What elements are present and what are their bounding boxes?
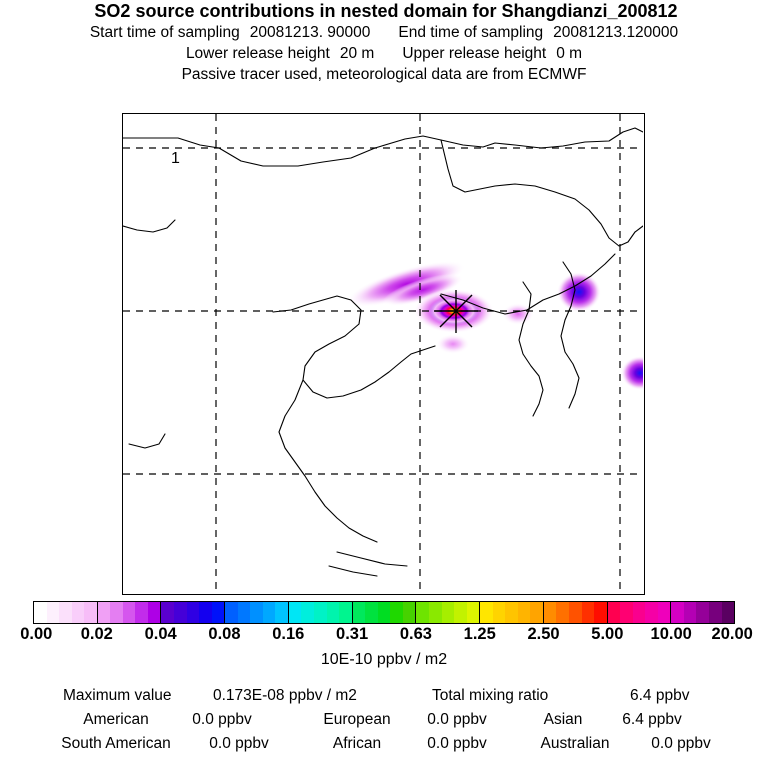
region-asian-label: Asian bbox=[544, 708, 583, 732]
release-height-line: Lower release height20 mUpper release he… bbox=[0, 43, 768, 64]
method-note: Passive tracer used, meteorological data… bbox=[0, 64, 768, 85]
colorbar-band-3-2 bbox=[250, 602, 263, 623]
end-time-value: 20081213.120000 bbox=[553, 24, 678, 41]
south-faint-plume bbox=[436, 334, 470, 354]
colorbar-band-3-1 bbox=[238, 602, 251, 623]
region-african-value: 0.0 ppbv bbox=[427, 732, 486, 756]
region-asian-value: 6.4 ppbv bbox=[622, 708, 681, 732]
colorbar-band-10-3 bbox=[709, 602, 722, 623]
stats-row-regions-1: American 0.0 ppbv European 0.0 ppbv Asia… bbox=[0, 708, 768, 732]
total-mixing-ratio-label: Total mixing ratio bbox=[432, 684, 548, 708]
colorbar-tick-6: 0.63 bbox=[400, 625, 432, 643]
max-value-label: Maximum value bbox=[63, 684, 172, 708]
colorbar-band-3-0 bbox=[225, 602, 238, 623]
colorbar-tick-11: 20.00 bbox=[712, 625, 753, 643]
colorbar-band-5-0 bbox=[353, 602, 366, 623]
region-south-american-label: South American bbox=[61, 732, 170, 756]
concentration-plumes bbox=[342, 252, 643, 390]
colorbar-band-3-4 bbox=[275, 602, 288, 623]
colorbar-band-1-3 bbox=[135, 602, 148, 623]
colorbar-band-5-3 bbox=[390, 602, 403, 623]
colorbar-band-1-4 bbox=[148, 602, 161, 623]
colorbar-band-6-3 bbox=[454, 602, 467, 623]
colorbar-band-10-0 bbox=[671, 602, 684, 623]
region-south-american-value: 0.0 ppbv bbox=[209, 732, 268, 756]
region-american-label: American bbox=[83, 708, 148, 732]
colorbar-band-6-1 bbox=[429, 602, 442, 623]
colorbar-tick-7: 1.25 bbox=[464, 625, 496, 643]
colorbar-segment-9 bbox=[608, 602, 672, 623]
colorbar-band-7-4 bbox=[530, 602, 543, 623]
colorbar-band-9-4 bbox=[658, 602, 671, 623]
colorbar-tick-2: 0.04 bbox=[145, 625, 177, 643]
nested-domain-label: 1 bbox=[171, 151, 180, 167]
colorbar-band-8-1 bbox=[556, 602, 569, 623]
colorbar-band-9-3 bbox=[645, 602, 658, 623]
colorbar-segment-8 bbox=[544, 602, 608, 623]
colorbar-band-0-0 bbox=[34, 602, 47, 623]
colorbar-band-2-3 bbox=[199, 602, 212, 623]
colorbar-segment-3 bbox=[225, 602, 289, 623]
colorbar-tick-8: 2.50 bbox=[527, 625, 559, 643]
colorbar-segment-2 bbox=[161, 602, 225, 623]
map-gridlines bbox=[123, 114, 643, 593]
colorbar-band-5-2 bbox=[378, 602, 391, 623]
colorbar-band-0-1 bbox=[47, 602, 60, 623]
colorbar-band-5-1 bbox=[365, 602, 378, 623]
colorbar-band-7-0 bbox=[480, 602, 493, 623]
max-value-value: 0.173E-08 ppbv / m2 bbox=[213, 684, 357, 708]
colorbar-band-8-0 bbox=[544, 602, 557, 623]
start-time-label: Start time of sampling bbox=[90, 24, 240, 41]
region-european-label: European bbox=[323, 708, 390, 732]
chart-header: SO2 source contributions in nested domai… bbox=[0, 0, 768, 85]
region-american-value: 0.0 ppbv bbox=[192, 708, 251, 732]
colorbar-band-3-3 bbox=[263, 602, 276, 623]
colorbar bbox=[33, 601, 735, 624]
upper-release-height-value: 0 m bbox=[556, 45, 582, 62]
colorbar-band-8-3 bbox=[582, 602, 595, 623]
colorbar-tick-10: 10.00 bbox=[651, 625, 692, 643]
colorbar-tick-3: 0.08 bbox=[208, 625, 240, 643]
colorbar-band-7-1 bbox=[493, 602, 506, 623]
colorbar-band-7-3 bbox=[518, 602, 531, 623]
stats-row-regions-2: South American 0.0 ppbv African 0.0 ppbv… bbox=[0, 732, 768, 756]
colorbar-tick-labels: 0.000.020.040.080.160.310.631.252.505.00… bbox=[0, 625, 768, 645]
colorbar-band-4-1 bbox=[301, 602, 314, 623]
lower-release-height-label: Lower release height bbox=[186, 45, 330, 62]
colorbar-segment-1 bbox=[98, 602, 162, 623]
colorbar-band-0-3 bbox=[72, 602, 85, 623]
lower-release-height-value: 20 m bbox=[340, 45, 374, 62]
colorbar-tick-1: 0.02 bbox=[81, 625, 113, 643]
southeast-edge-plume bbox=[621, 356, 643, 390]
colorbar-segment-7 bbox=[480, 602, 544, 623]
colorbar-segment-10 bbox=[671, 602, 734, 623]
colorbar-band-6-0 bbox=[416, 602, 429, 623]
map-plot-area: 1 bbox=[122, 113, 645, 595]
upper-release-height-label: Upper release height bbox=[402, 45, 546, 62]
colorbar-band-0-4 bbox=[84, 602, 97, 623]
page-title: SO2 source contributions in nested domai… bbox=[0, 0, 768, 22]
colorbar-band-1-1 bbox=[110, 602, 123, 623]
release-site-star-icon bbox=[434, 290, 478, 333]
colorbar-band-4-4 bbox=[339, 602, 352, 623]
colorbar-band-2-1 bbox=[174, 602, 187, 623]
colorbar-container bbox=[33, 601, 735, 624]
colorbar-band-2-0 bbox=[161, 602, 174, 623]
colorbar-band-9-1 bbox=[620, 602, 633, 623]
colorbar-band-4-2 bbox=[314, 602, 327, 623]
colorbar-tick-4: 0.16 bbox=[272, 625, 304, 643]
colorbar-band-10-1 bbox=[684, 602, 697, 623]
colorbar-segment-6 bbox=[416, 602, 480, 623]
colorbar-tick-0: 0.00 bbox=[20, 625, 52, 643]
end-time-label: End time of sampling bbox=[398, 24, 543, 41]
colorbar-band-2-2 bbox=[187, 602, 200, 623]
region-european-value: 0.0 ppbv bbox=[427, 708, 486, 732]
region-african-label: African bbox=[333, 732, 381, 756]
region-australian-label: Australian bbox=[541, 732, 610, 756]
colorbar-band-1-2 bbox=[123, 602, 136, 623]
colorbar-tick-9: 5.00 bbox=[591, 625, 623, 643]
colorbar-band-5-4 bbox=[403, 602, 416, 623]
region-australian-value: 0.0 ppbv bbox=[651, 732, 710, 756]
statistics-footer: Maximum value 0.173E-08 ppbv / m2 Total … bbox=[0, 684, 768, 756]
colorbar-band-0-2 bbox=[59, 602, 72, 623]
colorbar-band-4-3 bbox=[327, 602, 340, 623]
colorbar-band-10-2 bbox=[696, 602, 709, 623]
colorbar-band-2-4 bbox=[212, 602, 225, 623]
map-svg bbox=[123, 114, 643, 593]
colorbar-band-10-4 bbox=[722, 602, 735, 623]
colorbar-band-6-4 bbox=[467, 602, 480, 623]
colorbar-band-8-4 bbox=[594, 602, 607, 623]
colorbar-band-9-0 bbox=[608, 602, 621, 623]
colorbar-segment-5 bbox=[353, 602, 417, 623]
colorbar-segment-4 bbox=[289, 602, 353, 623]
total-mixing-ratio-value: 6.4 ppbv bbox=[630, 684, 689, 708]
colorbar-band-8-2 bbox=[569, 602, 582, 623]
colorbar-band-4-0 bbox=[289, 602, 302, 623]
colorbar-band-9-2 bbox=[633, 602, 646, 623]
sampling-time-line: Start time of sampling20081213. 90000End… bbox=[0, 22, 768, 43]
colorbar-band-7-2 bbox=[505, 602, 518, 623]
colorbar-segment-0 bbox=[34, 602, 98, 623]
colorbar-band-6-2 bbox=[442, 602, 455, 623]
colorbar-unit-label: 10E-10 ppbv / m2 bbox=[0, 650, 768, 670]
colorbar-tick-5: 0.31 bbox=[336, 625, 368, 643]
stats-row-summary: Maximum value 0.173E-08 ppbv / m2 Total … bbox=[0, 684, 768, 708]
colorbar-band-1-0 bbox=[98, 602, 111, 623]
start-time-value: 20081213. 90000 bbox=[250, 24, 371, 41]
coastline-overlay bbox=[123, 128, 643, 576]
